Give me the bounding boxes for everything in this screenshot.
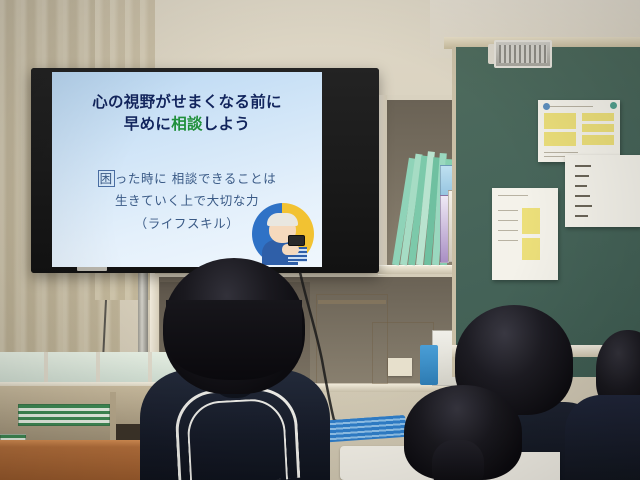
student-center-collar-inner-trim — [186, 397, 288, 480]
classroom-scene: 心の視野がせまくなる前に 早めに相談しよう 困った時に 相談できることは 生きて… — [0, 0, 640, 480]
student-center-hair-fringe — [166, 300, 302, 380]
green-textbook-stack — [18, 404, 110, 426]
student-foreground-ponytail-tail — [432, 440, 484, 480]
student-far-right-torso — [565, 395, 640, 480]
